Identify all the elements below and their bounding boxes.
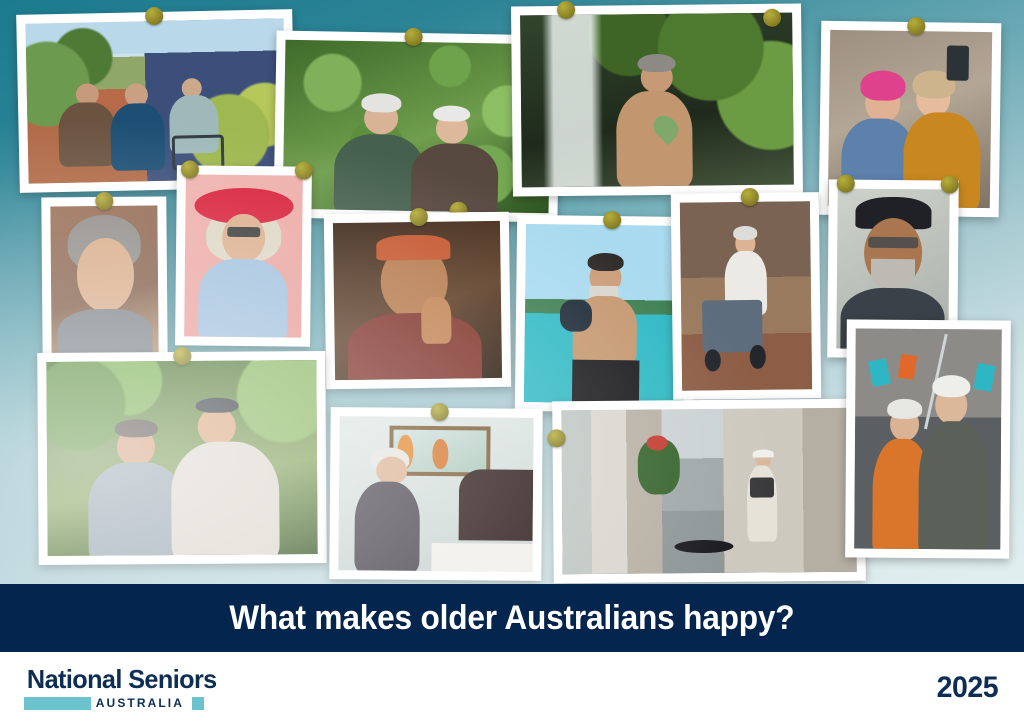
pin-icon <box>173 347 191 365</box>
photo-woman-with-rollator <box>671 192 822 400</box>
photo-woman-at-piano <box>329 407 542 581</box>
pin-icon <box>295 162 313 180</box>
photo-image <box>561 408 856 575</box>
photo-image <box>25 18 286 183</box>
photo-woman-praying-hands <box>324 212 511 390</box>
photo-two-men-walking <box>37 351 326 565</box>
photo-boxing-man <box>515 215 695 413</box>
photo-man-at-waterfall <box>511 3 803 196</box>
pin-icon <box>181 160 199 178</box>
photo-street-photographer <box>552 399 866 584</box>
page-title: What makes older Australians happy? <box>229 599 794 638</box>
pin-icon <box>837 175 855 193</box>
photo-image <box>524 224 686 404</box>
title-banner: What makes older Australians happy? <box>0 584 1024 652</box>
pin-icon <box>431 403 449 421</box>
footer: National Seniors AUSTRALIA 2025 <box>0 652 1024 724</box>
pin-icon <box>547 429 565 447</box>
photo-collage <box>0 0 1024 584</box>
pin-icon <box>741 188 759 206</box>
photo-image <box>520 13 794 188</box>
logo-subtitle: AUSTRALIA <box>91 697 188 710</box>
photo-woman-red-hat <box>175 165 312 346</box>
logo-teal-block-left <box>24 697 91 710</box>
photo-image <box>50 206 158 354</box>
pin-icon <box>557 1 575 19</box>
poster: What makes older Australians happy? Nati… <box>0 0 1024 724</box>
photo-image <box>854 328 1002 549</box>
photo-protest-couple <box>845 319 1011 558</box>
photo-image <box>680 201 812 391</box>
national-seniors-logo: National Seniors AUSTRALIA <box>24 666 220 709</box>
photo-woman-portrait-outdoor <box>41 196 167 362</box>
pin-icon <box>941 175 959 193</box>
pin-icon <box>603 211 621 229</box>
logo-name: National Seniors <box>27 666 217 693</box>
pin-icon <box>95 192 113 210</box>
pin-icon <box>763 9 781 27</box>
photo-image <box>338 416 533 572</box>
photo-image <box>333 221 502 380</box>
pin-icon <box>907 17 925 35</box>
logo-teal-block-right <box>192 697 204 710</box>
logo-underbar: AUSTRALIA <box>24 697 204 710</box>
photo-image <box>46 360 317 556</box>
photo-image <box>184 174 303 337</box>
year-label: 2025 <box>937 671 999 705</box>
